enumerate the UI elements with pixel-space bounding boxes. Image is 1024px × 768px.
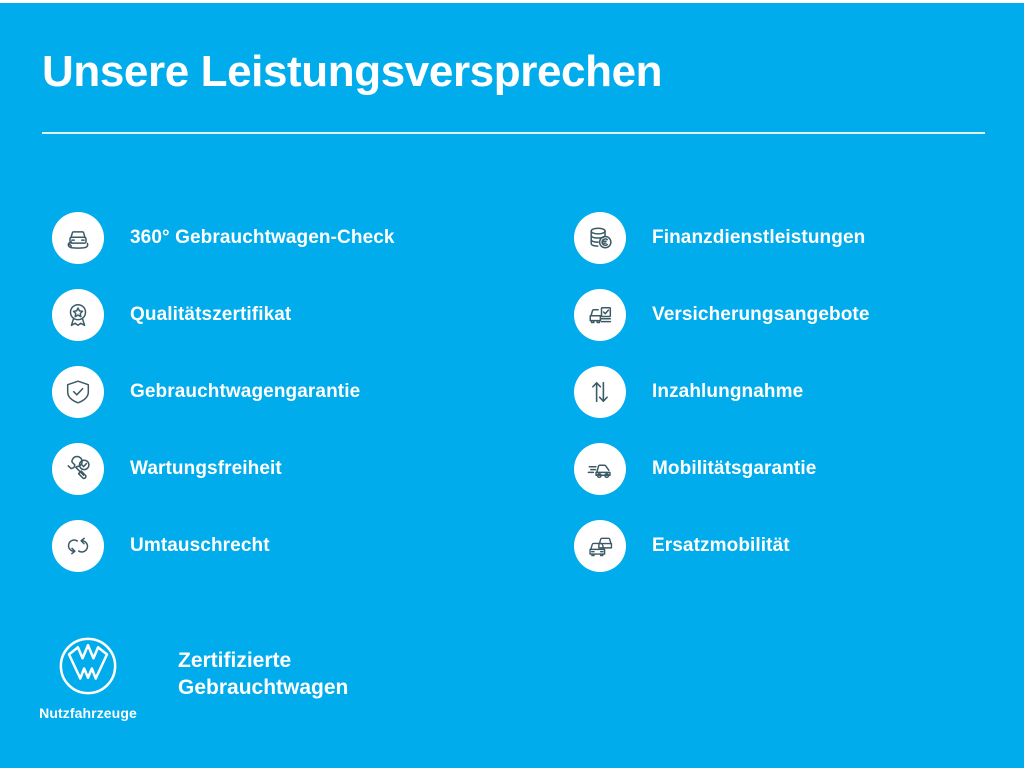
car-360-check-icon	[52, 212, 104, 264]
promise-label: 360° Gebrauchtwagen-Check	[130, 227, 395, 249]
promise-label: Versicherungsangebote	[652, 304, 870, 326]
exchange-arrows-icon	[52, 520, 104, 572]
promise-item-finanzdienstleistungen[interactable]: Finanzdienstleistungen	[574, 199, 994, 276]
brand-mark: Nutzfahrzeuge	[42, 635, 134, 721]
two-cars-icon	[574, 520, 626, 572]
promises-column-right: Finanzdienstleistungen Versicheru	[574, 199, 994, 584]
promise-item-umtauschrecht[interactable]: Umtauschrecht	[52, 507, 522, 584]
award-rosette-icon	[52, 289, 104, 341]
promise-label: Umtauschrecht	[130, 535, 270, 557]
promise-item-mobilitaetsgarantie[interactable]: Mobilitätsgarantie	[574, 430, 994, 507]
car-document-check-icon	[574, 289, 626, 341]
brand-sublabel: Nutzfahrzeuge	[39, 705, 137, 721]
promise-item-versicherungsangebote[interactable]: Versicherungsangebote	[574, 276, 994, 353]
brand-claim-line-2: Gebrauchtwagen	[178, 675, 348, 702]
promise-label: Wartungsfreiheit	[130, 458, 282, 480]
page-title: Unsere Leistungsversprechen	[42, 48, 986, 96]
promise-label: Finanzdienstleistungen	[652, 227, 865, 249]
promise-label: Ersatzmobilität	[652, 535, 790, 557]
coins-euro-icon	[574, 212, 626, 264]
slide-canvas: Unsere Leistungsversprechen 360° Gebrauc…	[0, 3, 1024, 768]
promise-label: Gebrauchtwagengarantie	[130, 381, 360, 403]
van-speed-icon	[574, 443, 626, 495]
brand-lockup: Nutzfahrzeuge Zertifizierte Gebrauchtwag…	[42, 635, 348, 721]
promise-item-360-check[interactable]: 360° Gebrauchtwagen-Check	[52, 199, 522, 276]
slide-header: Unsere Leistungsversprechen	[42, 48, 986, 96]
promise-label: Qualitätszertifikat	[130, 304, 291, 326]
promises-column-left: 360° Gebrauchtwagen-Check Qualitätszerti…	[52, 199, 522, 584]
promise-item-ersatzmobilitaet[interactable]: Ersatzmobilität	[574, 507, 994, 584]
promise-label: Inzahlungnahme	[652, 381, 803, 403]
promise-item-qualitaetszertifikat[interactable]: Qualitätszertifikat	[52, 276, 522, 353]
promise-item-inzahlungnahme[interactable]: Inzahlungnahme	[574, 353, 994, 430]
promises-grid: 360° Gebrauchtwagen-Check Qualitätszerti…	[0, 199, 1024, 584]
promise-label: Mobilitätsgarantie	[652, 458, 816, 480]
brand-claim: Zertifizierte Gebrauchtwagen	[178, 648, 348, 702]
brand-claim-line-1: Zertifizierte	[178, 648, 348, 675]
title-divider	[42, 132, 985, 134]
arrows-up-down-icon	[574, 366, 626, 418]
promise-item-gebrauchtwagengarantie[interactable]: Gebrauchtwagengarantie	[52, 353, 522, 430]
volkswagen-logo-icon	[57, 635, 119, 697]
wrench-check-icon	[52, 443, 104, 495]
shield-check-icon	[52, 366, 104, 418]
promise-item-wartungsfreiheit[interactable]: Wartungsfreiheit	[52, 430, 522, 507]
